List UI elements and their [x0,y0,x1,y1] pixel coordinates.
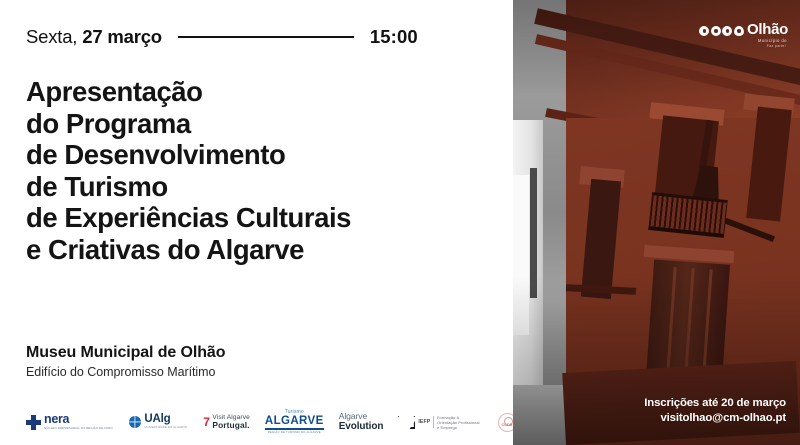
nera-tagline: NÚCLEO EMPRESARIAL DA REGIÃO DE FARO [44,426,113,430]
venue-name: Museu Municipal de Olhão [26,343,446,363]
olhao-wordmark: Olhão [747,22,788,37]
iefp-line3: e Emprego [437,425,480,430]
event-weekday: Sexta, [26,26,77,47]
registration-email[interactable]: visitolhao@cm-olhao.pt [644,411,786,426]
photo-duotone-region [566,0,800,445]
ualg-tagline: UNIVERSIDADE DO ALGARVE [144,426,187,430]
photo-gray-ground [513,385,566,445]
photo-balcony-railing [648,192,728,238]
nera-wordmark: nera [44,414,113,425]
venue-block: Museu Municipal de Olhão Edifício do Com… [26,343,446,381]
visit-swoosh-icon: 7 [203,417,210,428]
event-title: Apresentação do Programa de Desenvolvime… [26,76,496,265]
globe-icon [129,416,141,428]
logo-ualg: UAlg UNIVERSIDADE DO ALGARVE [129,409,187,435]
visit-algarve-line2: Portugal. [212,421,249,430]
title-line-4: de Turismo [26,171,496,203]
event-time: 15:00 [370,26,418,48]
venue-subtitle: Edifício do Compromisso Marítimo [26,364,446,381]
date-time-row: Sexta,27 março 15:00 [26,24,488,50]
title-line-1: Apresentação [26,76,496,108]
sponsor-logo-bar: nera NÚCLEO EMPRESARIAL DA REGIÃO DE FAR… [0,399,513,445]
algarve-evolution-line2: Evolution [339,421,384,432]
title-line-5: de Experiências Culturais [26,202,496,234]
turismo-algarve-rule [265,428,324,429]
photo-gray-shadow [530,168,537,298]
event-day: 27 março [82,26,162,47]
logo-iefp: IEFP Formação & Orientação Profissional … [398,409,479,435]
iefp-abbr: IEFP [418,419,430,425]
logo-nera: nera NÚCLEO EMPRESARIAL DA REGIÃO DE FAR… [26,409,113,435]
ualg-wordmark: UAlg [144,414,187,425]
turismo-algarve-wordmark: ALGARVE [265,415,324,427]
title-line-2: do Programa [26,108,496,140]
iefp-divider [433,416,434,428]
logo-algarve-evolution: Algarve Evolution [339,409,384,435]
ccdr-abbr: CCDR [502,423,513,427]
date-time-divider [178,36,354,38]
iefp-line2: Orientação Profissional [437,420,480,425]
venue-photo-panel: Olhão Município de Faz parte! Inscrições… [513,0,800,445]
event-poster: Sexta,27 março 15:00 Apresentação do Pro… [0,0,800,445]
title-line-6: e Criativas do Algarve [26,234,496,266]
olhao-logo-mark-icon [699,26,744,36]
logo-visit-algarve-portugal: 7 Visit Algarve Portugal. [203,409,250,435]
title-line-3: de Desenvolvimento [26,139,496,171]
algarve-evolution-line1: Algarve [339,412,384,422]
registration-deadline: Inscrições até 20 de março [644,396,786,411]
turismo-algarve-tagline: REGIÃO DE TURISMO DO ALGARVE [265,431,324,435]
photo-grayscale-strip [513,0,566,445]
nera-cross-icon [26,415,41,430]
olhao-brand-logo: Olhão Município de Faz parte! [699,22,788,49]
logo-turismo-algarve: Turismo ALGARVE REGIÃO DE TURISMO DO ALG… [265,409,324,435]
registration-info: Inscrições até 20 de março visitolhao@cm… [644,396,786,425]
olhao-brand-slogan: Faz parte! [699,44,788,49]
poster-left-column: Sexta,27 março 15:00 Apresentação do Pro… [0,0,513,445]
event-date: Sexta,27 março [26,26,162,48]
photo-gray-wall-highlight [513,175,529,335]
iefp-mark-icon [398,416,415,429]
